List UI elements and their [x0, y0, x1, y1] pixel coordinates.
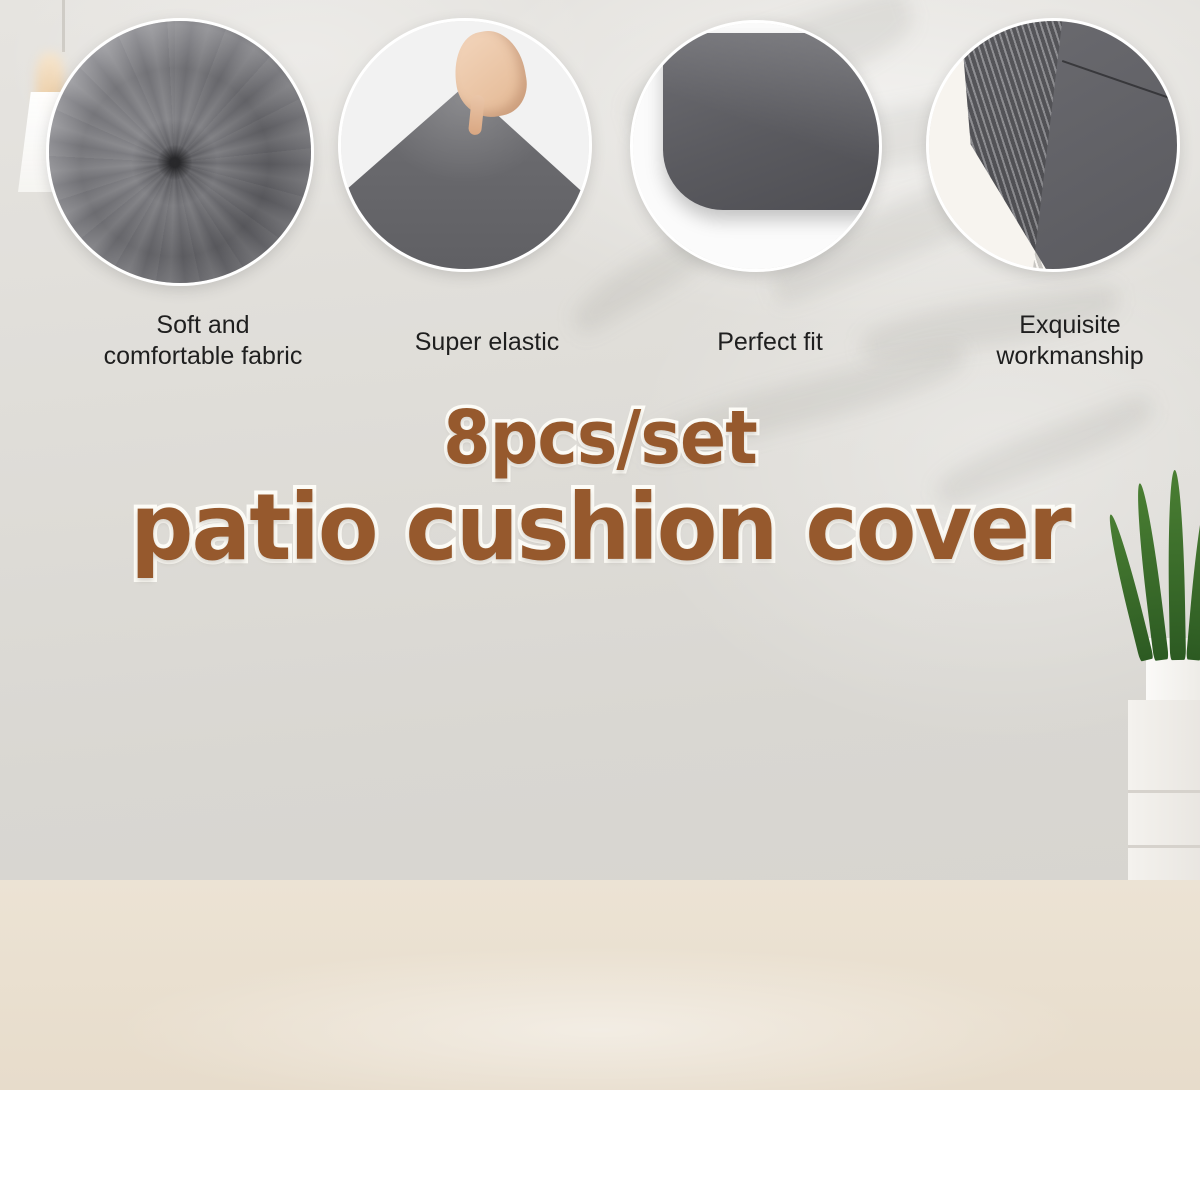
feature-image-super-elastic [338, 18, 592, 272]
caption-line-1: Perfect fit [660, 327, 880, 358]
fitted-cushion-corner [663, 33, 882, 210]
sectional-sofa [0, 590, 1200, 1060]
feature-caption-workmanship: Exquisite workmanship [960, 310, 1180, 371]
headline-line-1: 8pcs/set [48, 398, 1152, 478]
feature-caption-super-elastic: Super elastic [372, 327, 602, 358]
caption-line-2: workmanship [960, 341, 1180, 372]
headline-line-2: patio cushion cover [24, 478, 1176, 578]
feature-caption-soft-fabric: Soft and comfortable fabric [78, 310, 328, 371]
feature-caption-perfect-fit: Perfect fit [660, 327, 880, 358]
feature-image-workmanship [926, 18, 1180, 272]
swirled-fabric-texture [49, 21, 311, 283]
feature-image-perfect-fit [630, 20, 882, 272]
caption-line-1: Super elastic [372, 327, 602, 358]
caption-line-2: comfortable fabric [78, 341, 328, 372]
color-swatch-strip [0, 1090, 1200, 1200]
caption-line-1: Exquisite [960, 310, 1180, 341]
feature-image-soft-fabric [46, 18, 314, 286]
product-ad-banner: Soft and comfortable fabric Super elasti… [0, 0, 1200, 1200]
caption-line-1: Soft and [78, 310, 328, 341]
